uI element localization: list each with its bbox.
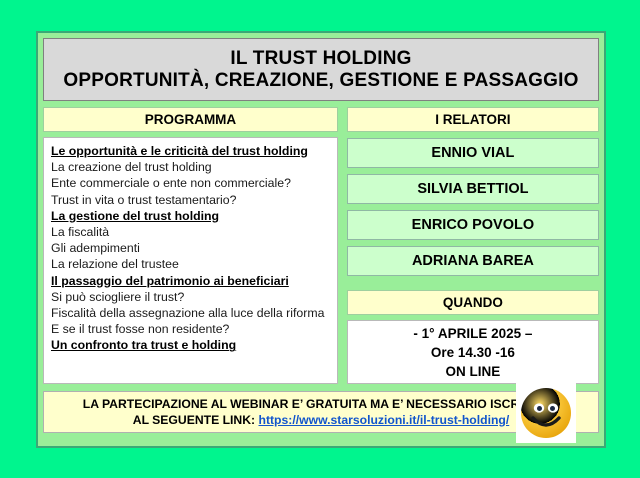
smiling-face-icon: [520, 387, 572, 439]
program-heading: PROGRAMMA: [43, 107, 338, 132]
speakers-list: ENNIO VIALSILVIA BETTIOLENRICO POVOLOADR…: [347, 132, 599, 276]
title-line-2: OPPORTUNITÀ, CREAZIONE, GESTIONE E PASSA…: [63, 70, 578, 91]
footer-line-1: LA PARTECIPAZIONE AL WEBINAR E’ GRATUITA…: [83, 396, 559, 412]
smiley-plate: [516, 383, 576, 443]
footer-link-prefix: AL SEGUENTE LINK:: [133, 413, 259, 427]
program-item: La relazione del trustee: [51, 256, 330, 272]
when-line: ON LINE: [446, 364, 501, 379]
program-panel: Le opportunità e le criticità del trust …: [43, 137, 338, 384]
program-item: Il passaggio del patrimonio ai beneficia…: [51, 273, 330, 289]
program-column: PROGRAMMA Le opportunità e le criticità …: [43, 107, 338, 384]
flyer-body: PROGRAMMA Le opportunità e le criticità …: [43, 107, 599, 384]
program-item: La gestione del trust holding: [51, 208, 330, 224]
speaker-box: ENNIO VIAL: [347, 138, 599, 168]
program-list: Le opportunità e le criticità del trust …: [51, 143, 330, 354]
program-item: Le opportunità e le criticità del trust …: [51, 143, 330, 159]
column-gap: [338, 107, 347, 384]
speaker-box: ADRIANA BAREA: [347, 246, 599, 276]
program-item: Trust in vita o trust testamentario?: [51, 192, 330, 208]
program-item: Fiscalità della assegnazione alla luce d…: [51, 305, 330, 321]
speakers-column: I RELATORI ENNIO VIALSILVIA BETTIOLENRIC…: [347, 107, 599, 384]
speaker-box: SILVIA BETTIOL: [347, 174, 599, 204]
when-details: - 1° APRILE 2025 –Ore 14.30 -16ON LINE: [347, 320, 599, 384]
when-line: - 1° APRILE 2025 –: [413, 326, 532, 341]
when-line: Ore 14.30 -16: [431, 345, 515, 360]
registration-link[interactable]: https://www.starsoluzioni.it/il-trust-ho…: [259, 413, 510, 427]
program-item: La creazione del trust holding: [51, 159, 330, 175]
speaker-box: ENRICO POVOLO: [347, 210, 599, 240]
title-line-1: IL TRUST HOLDING: [230, 48, 411, 69]
program-item: Gli adempimenti: [51, 240, 330, 256]
footer-line-2: AL SEGUENTE LINK: https://www.starsoluzi…: [133, 412, 509, 428]
speakers-heading: I RELATORI: [347, 107, 599, 132]
program-item: Ente commerciale o ente non commerciale?: [51, 175, 330, 191]
program-item: La fiscalità: [51, 224, 330, 240]
when-heading: QUANDO: [347, 290, 599, 315]
program-item: Un confronto tra trust e holding: [51, 337, 330, 353]
program-item: E se il trust fosse non residente?: [51, 321, 330, 337]
flyer-title: IL TRUST HOLDING OPPORTUNITÀ, CREAZIONE,…: [43, 38, 599, 101]
program-item: Si può sciogliere il trust?: [51, 289, 330, 305]
